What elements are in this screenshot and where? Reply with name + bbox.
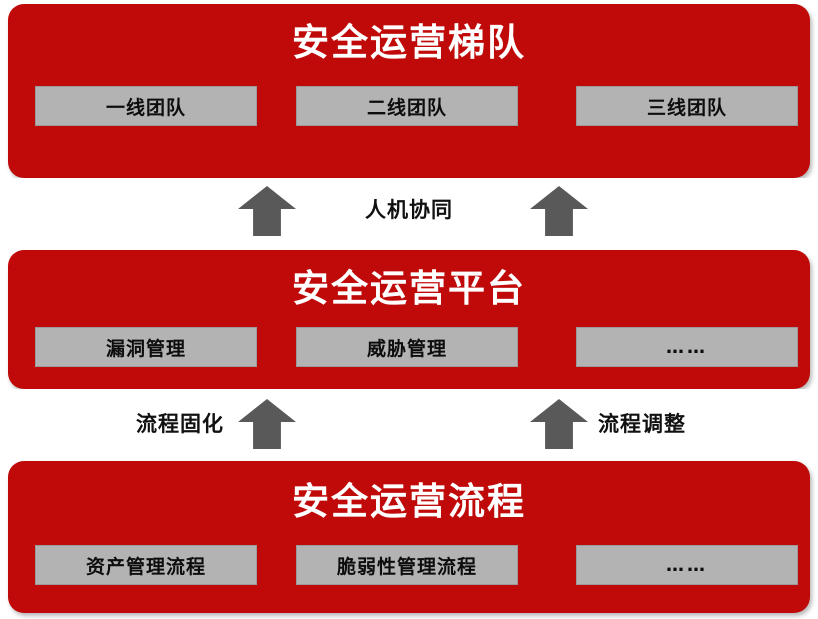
item-box-second-line-team[interactable]: 二线团队 bbox=[296, 86, 518, 126]
tier-panel-team: 安全运营梯队 一线团队 二线团队 三线团队 bbox=[8, 4, 810, 178]
tier-items-process: 资产管理流程 脆弱性管理流程 …… bbox=[8, 545, 810, 585]
connector-label-human-machine-collaboration: 人机协同 bbox=[0, 200, 818, 221]
connector-label-process-solidification: 流程固化 bbox=[136, 414, 224, 435]
item-box-third-line-team[interactable]: 三线团队 bbox=[576, 86, 798, 126]
item-box-vulnerability-management-process[interactable]: 脆弱性管理流程 bbox=[296, 545, 518, 585]
item-box-more-process[interactable]: …… bbox=[576, 545, 798, 585]
tier-panel-process: 安全运营流程 资产管理流程 脆弱性管理流程 …… bbox=[8, 461, 810, 613]
arrow-up-icon-right-lower bbox=[530, 399, 588, 449]
item-box-first-line-team[interactable]: 一线团队 bbox=[35, 86, 257, 126]
connector-process-to-platform: 流程固化 流程调整 bbox=[0, 389, 818, 461]
tier-title-process: 安全运营流程 bbox=[8, 483, 810, 520]
tier-title-platform: 安全运营平台 bbox=[8, 270, 810, 307]
connector-platform-to-team: 人机协同 bbox=[0, 178, 818, 250]
item-box-more-platform[interactable]: …… bbox=[576, 327, 798, 367]
connector-label-process-adjustment: 流程调整 bbox=[598, 414, 686, 435]
item-box-threat-management[interactable]: 威胁管理 bbox=[296, 327, 518, 367]
tier-items-platform: 漏洞管理 威胁管理 …… bbox=[8, 327, 810, 367]
tier-panel-platform: 安全运营平台 漏洞管理 威胁管理 …… bbox=[8, 250, 810, 389]
item-box-asset-management-process[interactable]: 资产管理流程 bbox=[35, 545, 257, 585]
arrow-up-icon-left-lower bbox=[238, 399, 296, 449]
tier-title-team: 安全运营梯队 bbox=[8, 24, 810, 61]
item-box-vulnerability-management[interactable]: 漏洞管理 bbox=[35, 327, 257, 367]
tier-items-team: 一线团队 二线团队 三线团队 bbox=[8, 86, 810, 126]
architecture-diagram: 安全运营梯队 一线团队 二线团队 三线团队 人机协同 安全运营平台 漏洞管理 威… bbox=[0, 0, 818, 619]
